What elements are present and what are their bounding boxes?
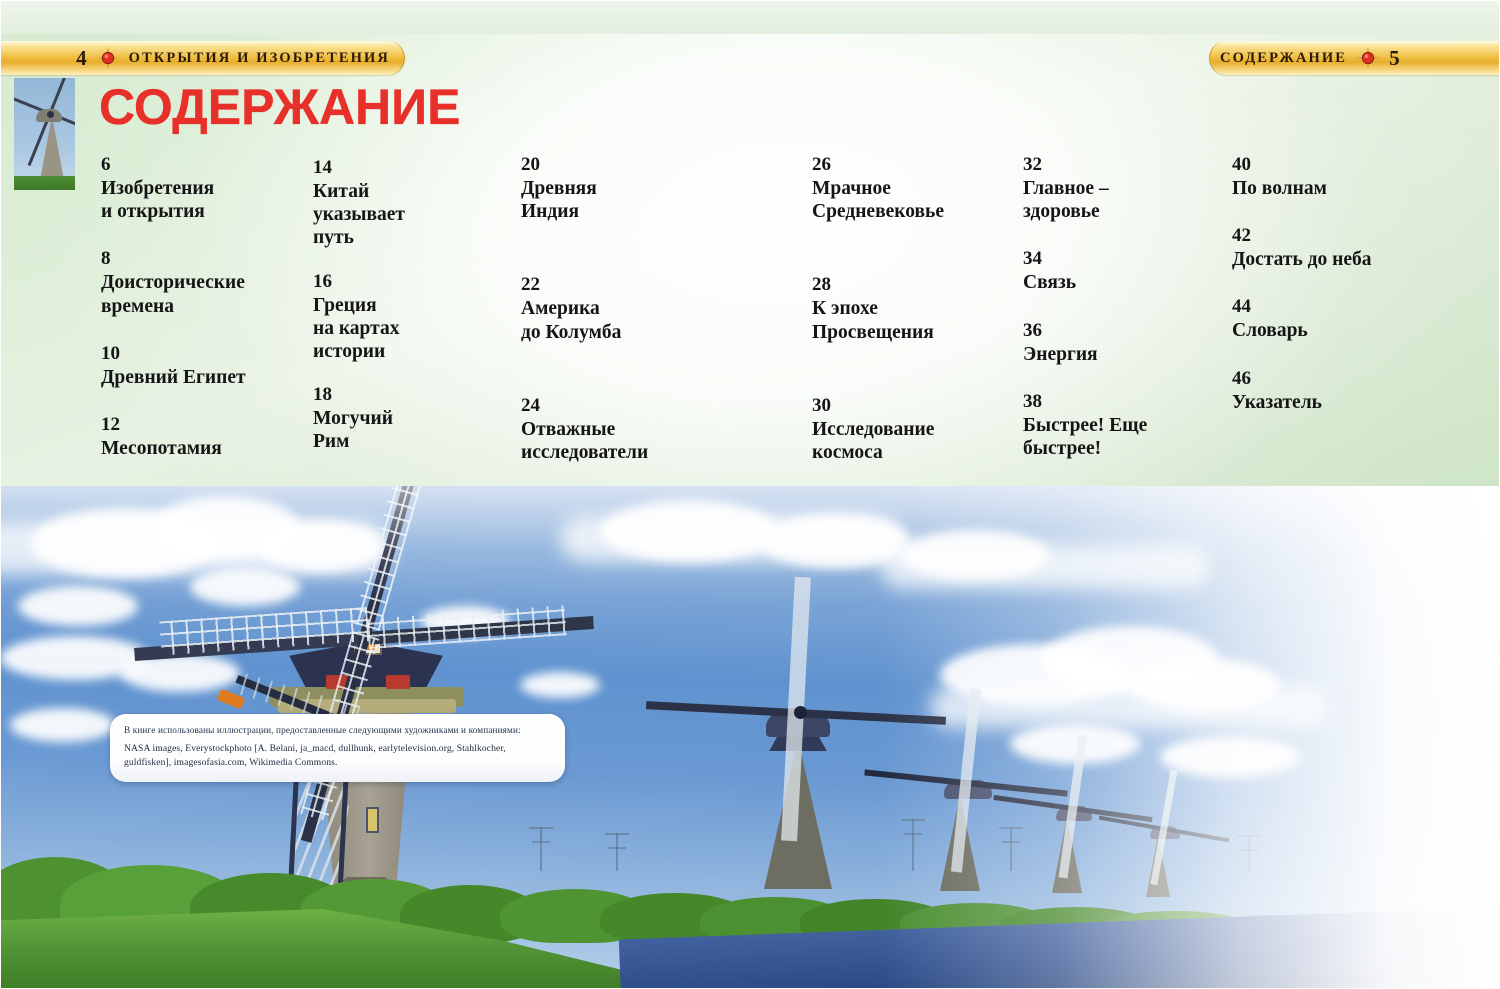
toc-entry-label: Энергия (1023, 343, 1223, 366)
toc-entry-label: К эпохе Просвещения (812, 297, 1017, 343)
toc-entry[interactable]: 12 Месопотамия (101, 415, 306, 460)
toc-entry-label: Исследование космоса (812, 418, 1017, 464)
toc-entry[interactable]: 46 Указатель (1232, 369, 1482, 414)
toc-entry[interactable]: 10 Древний Египет (101, 344, 306, 389)
toc-entry[interactable]: 40 По волнам (1232, 155, 1482, 200)
toc-entry-label: Связь (1023, 271, 1223, 294)
toc-page-number: 14 (313, 158, 513, 177)
toc-entry[interactable]: 24 Отважные исследователи (521, 396, 801, 464)
toc-page-number: 30 (812, 396, 1017, 415)
toc-entry-label: Америка до Колумба (521, 297, 801, 343)
toc-entry[interactable]: 44 Словарь (1232, 297, 1482, 342)
toc-entry[interactable]: 38 Быстрее! Еще быстрее! (1023, 392, 1223, 460)
toc-page-number: 8 (101, 249, 306, 268)
toc-entry-label: Месопотамия (101, 437, 306, 460)
folio-number-right: 5 (1389, 48, 1400, 69)
toc-column-2: 14 Китай указывает путь 16 Греция на кар… (313, 158, 513, 454)
toc-page-number: 40 (1232, 155, 1482, 174)
toc-entry-label: По волнам (1232, 177, 1482, 200)
toc-page-number: 12 (101, 415, 306, 434)
toc-entry[interactable]: 36 Энергия (1023, 321, 1223, 366)
toc-page-number: 28 (812, 275, 1017, 294)
toc-entry-label: Отважные исследователи (521, 418, 801, 464)
credits-callout: В книге использованы иллюстрации, предос… (110, 714, 565, 782)
toc-page-number: 6 (101, 155, 306, 174)
toc-page-number: 46 (1232, 369, 1482, 388)
toc-page-number: 42 (1232, 226, 1482, 245)
header-banner-left: 4 ОТКРЫТИЯ И ИЗОБРЕТЕНИЯ (0, 41, 405, 75)
toc-page-number: 20 (521, 155, 801, 174)
toc-entry[interactable]: 8 Доисторические времена (101, 249, 306, 317)
toc-entry-label: Изобретения и открытия (101, 177, 306, 223)
toc-entry[interactable]: 34 Связь (1023, 249, 1223, 294)
toc-page-number: 22 (521, 275, 801, 294)
toc-entry-label: Древний Египет (101, 366, 306, 389)
toc-entry[interactable]: 18 Могучий Рим (313, 385, 513, 453)
page-top-strip (0, 0, 1500, 34)
toc-entry[interactable]: 28 К эпохе Просвещения (812, 275, 1017, 343)
toc-entry[interactable]: 14 Китай указывает путь (313, 158, 513, 250)
toc-column-3: 20 Древняя Индия 22 Америка до Колумба 2… (521, 155, 801, 464)
toc-page-number: 44 (1232, 297, 1482, 316)
toc-entry[interactable]: 42 Достать до неба (1232, 226, 1482, 271)
credits-body-text: NASA images, Everystockphoto [A. Belani,… (124, 742, 549, 769)
toc-page-number: 24 (521, 396, 801, 415)
toc-column-5: 32 Главное – здоровье 34 Связь 36 Энерги… (1023, 155, 1223, 460)
toc-entry-label: Древняя Индия (521, 177, 801, 223)
toc-entry-label: Словарь (1232, 319, 1482, 342)
toc-entry-label: Доисторические времена (101, 271, 306, 317)
toc-entry-label: Могучий Рим (313, 407, 513, 453)
toc-entry-label: Китай указывает путь (313, 180, 513, 250)
toc-entry-label: Главное – здоровье (1023, 177, 1223, 223)
toc-column-6: 40 По волнам 42 Достать до неба 44 Слова… (1232, 155, 1482, 414)
toc-entry-label: Греция на картах истории (313, 294, 513, 364)
credits-lead-text: В книге использованы иллюстрации, предос… (124, 724, 549, 736)
toc-entry[interactable]: 30 Исследование космоса (812, 396, 1017, 464)
toc-entry[interactable]: 32 Главное – здоровье (1023, 155, 1223, 223)
toc-entry[interactable]: 26 Мрачное Средневековье (812, 155, 1017, 223)
toc-column-4: 26 Мрачное Средневековье 28 К эпохе Прос… (812, 155, 1017, 464)
toc-page-number: 26 (812, 155, 1017, 174)
toc-entry[interactable]: 16 Греция на картах истории (313, 272, 513, 364)
compass-rose-gem-icon (96, 46, 120, 70)
kinderdijk-windmills-photo: В книге использованы иллюстрации, предос… (0, 486, 1500, 989)
toc-entry-label: Мрачное Средневековье (812, 177, 1017, 223)
toc-page-number: 34 (1023, 249, 1223, 268)
toc-entry-label: Указатель (1232, 391, 1482, 414)
toc-entry[interactable]: 20 Древняя Индия (521, 155, 801, 223)
toc-entry[interactable]: 22 Америка до Колумба (521, 275, 801, 343)
table-of-contents: 6 Изобретения и открытия 8 Доисторически… (0, 155, 1500, 465)
toc-column-1: 6 Изобретения и открытия 8 Доисторически… (101, 155, 306, 460)
header-title-right: СОДЕРЖАНИЕ (1220, 50, 1347, 67)
header-title-left: ОТКРЫТИЯ И ИЗОБРЕТЕНИЯ (129, 50, 390, 67)
toc-page-number: 18 (313, 385, 513, 404)
folio-number-left: 4 (76, 48, 87, 69)
toc-page-number: 16 (313, 272, 513, 291)
photo-right-fade (880, 486, 1500, 989)
page-title: СОДЕРЖАНИЕ (99, 82, 460, 132)
header-banner-right: СОДЕРЖАНИЕ 5 (1209, 41, 1500, 75)
book-spread-page: 4 ОТКРЫТИЯ И ИЗОБРЕТЕНИЯ СОДЕРЖАНИЕ (0, 0, 1500, 989)
toc-entry-label: Быстрее! Еще быстрее! (1023, 414, 1223, 460)
toc-page-number: 36 (1023, 321, 1223, 340)
toc-entry-label: Достать до неба (1232, 248, 1482, 271)
toc-page-number: 32 (1023, 155, 1223, 174)
toc-page-number: 10 (101, 344, 306, 363)
compass-rose-gem-icon (1356, 46, 1380, 70)
toc-page-number: 38 (1023, 392, 1223, 411)
toc-entry[interactable]: 6 Изобретения и открытия (101, 155, 306, 223)
